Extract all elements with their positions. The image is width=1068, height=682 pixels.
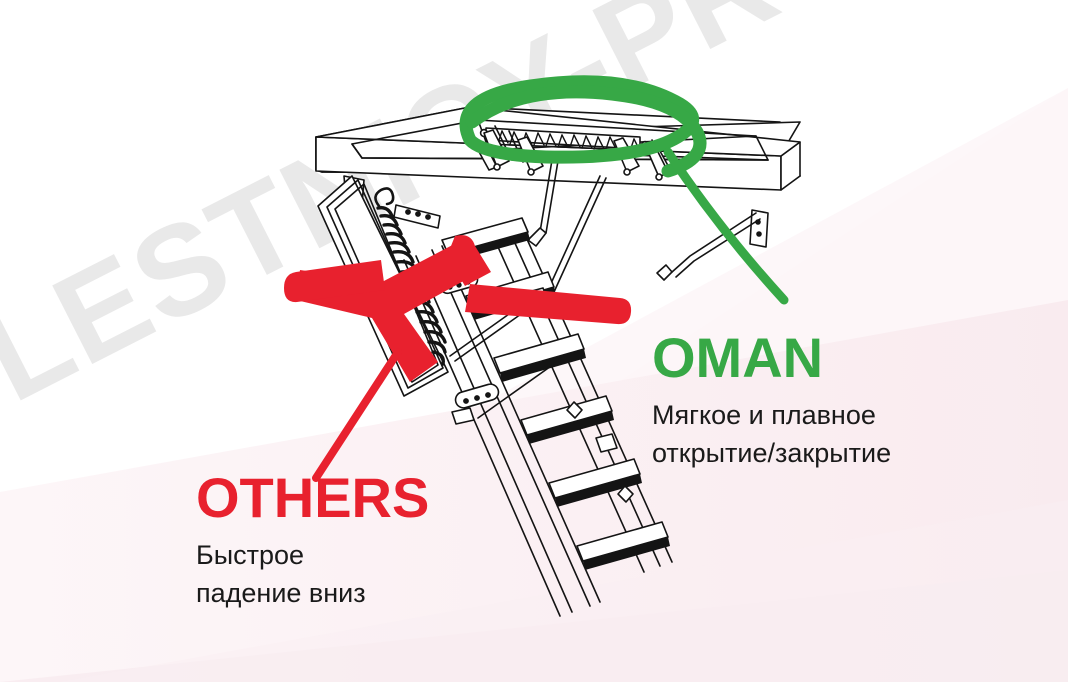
others-label-block: OTHERS Быстрое падение вниз	[196, 470, 526, 613]
oman-title: OMAN	[652, 330, 982, 386]
oman-desc-line-1: Мягкое и плавное	[652, 396, 982, 434]
others-desc-line-2: падение вниз	[196, 574, 526, 612]
others-title: OTHERS	[196, 470, 526, 526]
oman-label-block: OMAN Мягкое и плавное открытие/закрытие	[652, 330, 982, 473]
others-desc-line-1: Быстрое	[196, 536, 526, 574]
oman-desc-line-2: открытие/закрытие	[652, 434, 982, 472]
comparison-infographic: LESTNICY-PROSTO.RU	[0, 0, 1068, 682]
